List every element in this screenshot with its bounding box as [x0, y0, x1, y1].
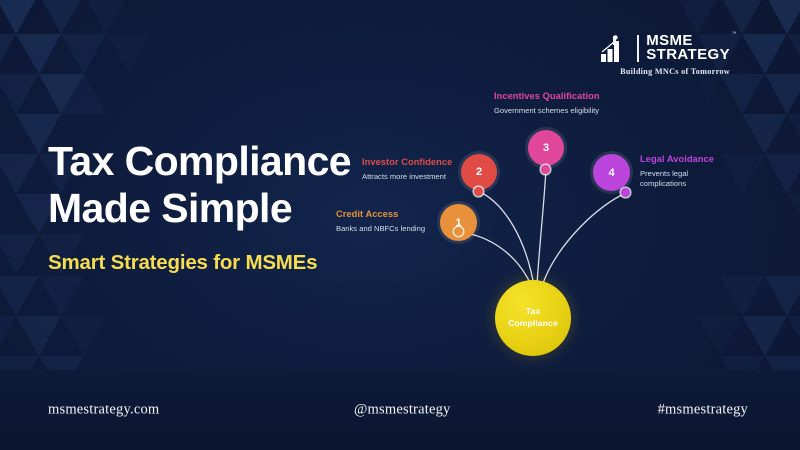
- node-4-number: 4: [608, 167, 614, 179]
- footer-hashtag[interactable]: #msmestrategy: [658, 402, 748, 419]
- node-3-title: Incentives Qualification: [494, 91, 600, 101]
- node-3-label: Incentives Qualification Government sche…: [494, 91, 600, 116]
- node-4-title: Legal Avoidance: [640, 154, 714, 164]
- node-4-desc: Prevents legal complications: [640, 169, 704, 190]
- node-4-connector-dot: [621, 188, 630, 197]
- node-1-connector-dot: [454, 227, 463, 236]
- node-1-desc: Banks and NBFCs lending: [336, 224, 425, 234]
- logo-name-strategy: STRATEGY: [646, 48, 730, 62]
- center-label-line-1: Tax: [508, 306, 558, 318]
- connector-line-3: [537, 169, 546, 285]
- node-2-desc: Attracts more investment: [362, 172, 452, 182]
- trademark-symbol: ™: [732, 32, 737, 37]
- node-2-bubble[interactable]: 2: [461, 154, 497, 190]
- connector-line-2: [478, 191, 534, 286]
- footer-bar: msmestrategy.com @msmestrategy #msmestra…: [0, 370, 800, 450]
- footer-social-handle[interactable]: @msmestrategy: [354, 402, 451, 419]
- node-2-label: Investor Confidence Attracts more invest…: [362, 157, 452, 182]
- brand-logo: MSME STRATEGY ™ Building MNCs of Tomorro…: [600, 33, 730, 76]
- node-2-number: 2: [476, 166, 482, 178]
- node-1-label: Credit Access Banks and NBFCs lending: [336, 209, 425, 234]
- node-4-bubble[interactable]: 4: [593, 154, 630, 191]
- center-label-line-2: Compliance: [508, 318, 558, 330]
- footer-website[interactable]: msmestrategy.com: [48, 402, 159, 419]
- bar-chart-growth-icon: [600, 33, 630, 63]
- node-3-number: 3: [543, 142, 549, 154]
- node-3-desc: Government schemes eligibility: [494, 106, 600, 116]
- center-node-tax-compliance[interactable]: Tax Compliance: [495, 280, 571, 356]
- node-2-title: Investor Confidence: [362, 157, 452, 167]
- slide-canvas: MSME STRATEGY ™ Building MNCs of Tomorro…: [0, 0, 800, 450]
- node-1-title: Credit Access: [336, 209, 425, 219]
- node-3-bubble[interactable]: 3: [528, 130, 564, 166]
- logo-wordmark: MSME STRATEGY ™: [646, 34, 730, 63]
- node-2-connector-dot: [474, 187, 483, 196]
- logo-divider: [637, 35, 639, 62]
- node-4-label: Legal Avoidance Prevents legal complicat…: [640, 154, 714, 190]
- radial-benefit-diagram: 1 Credit Access Banks and NBFCs lending …: [330, 75, 770, 375]
- connector-line-4: [542, 193, 626, 286]
- node-3-connector-dot: [541, 165, 550, 174]
- logo-row: MSME STRATEGY ™: [600, 33, 730, 63]
